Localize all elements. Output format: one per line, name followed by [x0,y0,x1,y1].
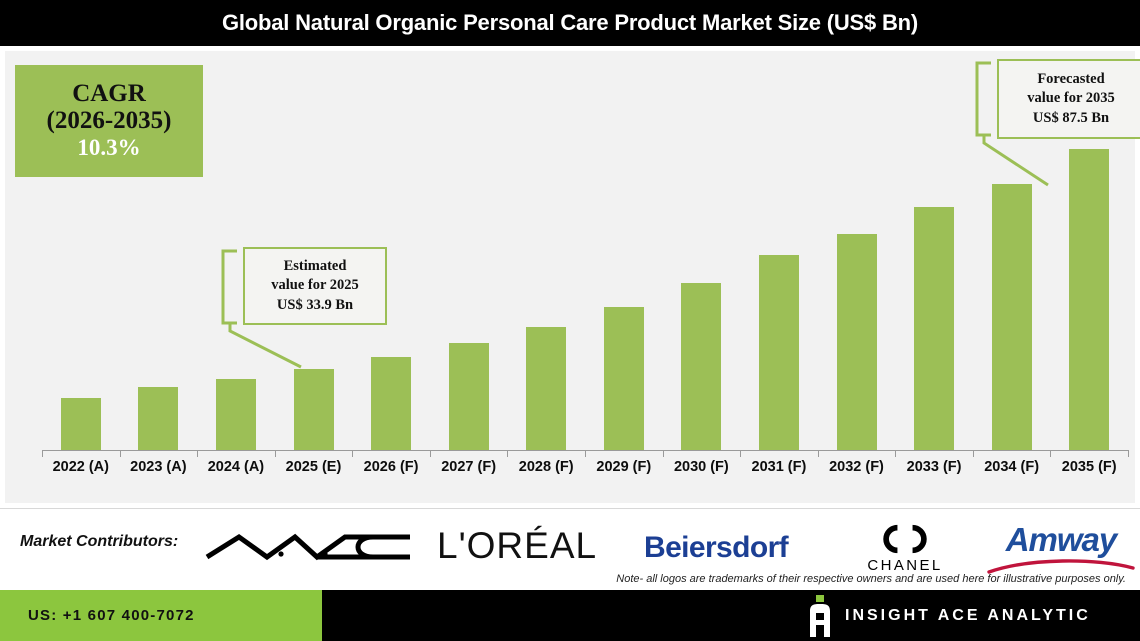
cagr-title: CAGR [72,80,146,107]
x-tick-2024 [197,450,198,457]
beiersdorf-logo: Beiersdorf [644,531,788,565]
bar-2027 [449,343,489,450]
bar-2028 [526,327,566,450]
x-label-2026: 2026 (F) [352,459,430,475]
bar-2024 [216,379,256,450]
x-label-2029: 2029 (F) [585,459,663,475]
insight-ace-a-logo-icon [805,595,835,637]
x-tick-2032 [818,450,819,457]
x-label-2025: 2025 (E) [275,459,353,475]
bar-2022 [61,398,101,450]
x-tick-end [1128,450,1129,457]
callout-forecasted-line1: Forecasted [1037,70,1104,89]
callout-estimated-line2: value for 2025 [271,276,359,295]
amway-logo: Amway [985,523,1137,573]
x-tick-2026 [352,450,353,457]
x-tick-2035 [1050,450,1051,457]
title-bar: Global Natural Organic Personal Care Pro… [0,0,1140,46]
callout-estimated-line1: Estimated [284,257,347,276]
x-axis-labels: 2022 (A)2023 (A)2024 (A)2025 (E)2026 (F)… [5,459,1135,493]
footer-phone[interactable]: US: +1 607 400-7072 [28,607,195,624]
callout-forecasted-2035: Forecasted value for 2035 US$ 87.5 Bn [997,59,1140,139]
callout-forecasted-line3: US$ 87.5 Bn [1033,109,1109,128]
logo-trademark-note: Note- all logos are trademarks of their … [616,573,1126,585]
amway-wordmark: Amway [985,521,1137,559]
x-label-2024: 2024 (A) [197,459,275,475]
bar-2025 [294,369,334,450]
callout-estimated-line3: US$ 33.9 Bn [277,296,353,315]
bar-2029 [604,307,644,450]
bar-2035 [1069,149,1109,450]
bar-2030 [681,283,721,450]
chanel-cc-mark [856,522,954,556]
x-label-2032: 2032 (F) [818,459,896,475]
loreal-logo: L'ORÉAL [437,525,597,567]
chart-panel: 2022 (A)2023 (A)2024 (A)2025 (E)2026 (F)… [0,46,1140,508]
cagr-period: (2026-2035) [47,107,172,134]
x-tick-2022 [42,450,43,457]
bar-2034 [992,184,1032,450]
chanel-wordmark: CHANEL [856,557,954,574]
x-label-2023: 2023 (A) [120,459,198,475]
cagr-value: 10.3% [77,134,140,161]
footer-brand-name: INSIGHT ACE ANALYTIC [845,590,1091,641]
x-tick-2023 [120,450,121,457]
cagr-box: CAGR (2026-2035) 10.3% [15,65,203,177]
x-tick-2033 [895,450,896,457]
callout-forecasted-line2: value for 2035 [1027,89,1115,108]
market-contributors-strip: Market Contributors: L'ORÉAL Beiersdorf … [0,508,1140,591]
callout-estimated-2025: Estimated value for 2025 US$ 33.9 Bn [243,247,387,325]
bar-2026 [371,357,411,450]
page-title: Global Natural Organic Personal Care Pro… [222,10,918,36]
bar-2023 [138,387,178,450]
x-tick-2027 [430,450,431,457]
x-tick-2034 [973,450,974,457]
x-label-2031: 2031 (F) [740,459,818,475]
bar-2032 [837,234,877,450]
market-contributors-label: Market Contributors: [20,533,178,551]
mac-logo [205,527,415,567]
x-label-2030: 2030 (F) [663,459,741,475]
chanel-logo: CHANEL [856,522,954,574]
footer-contact-block: US: +1 607 400-7072 [0,590,322,641]
infographic-page: Global Natural Organic Personal Care Pro… [0,0,1140,641]
x-label-2035: 2035 (F) [1050,459,1128,475]
x-tick-2029 [585,450,586,457]
footer-bar: US: +1 607 400-7072 INSIGHT ACE ANALYTIC [0,590,1140,641]
x-label-2028: 2028 (F) [507,459,585,475]
plot-area: 2022 (A)2023 (A)2024 (A)2025 (E)2026 (F)… [5,51,1135,503]
x-label-2033: 2033 (F) [895,459,973,475]
x-tick-2030 [663,450,664,457]
x-tick-2031 [740,450,741,457]
x-label-2034: 2034 (F) [973,459,1051,475]
bar-2031 [759,255,799,450]
x-tick-2025 [275,450,276,457]
x-label-2027: 2027 (F) [430,459,508,475]
x-tick-2028 [507,450,508,457]
x-label-2022: 2022 (A) [42,459,120,475]
bar-2033 [914,207,954,450]
